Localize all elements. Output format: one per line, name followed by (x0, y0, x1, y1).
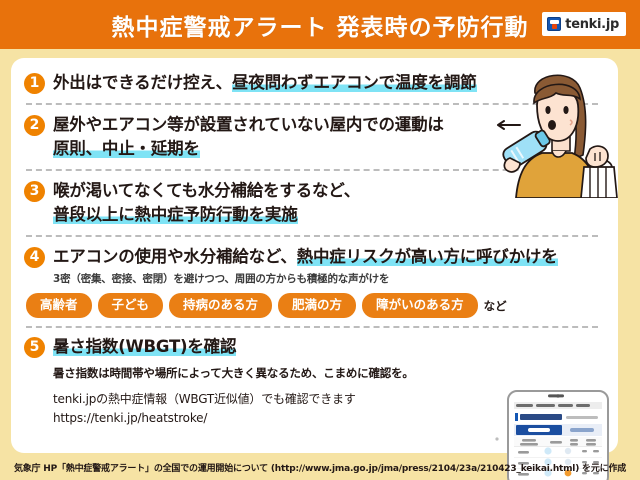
item-5-detail-1: 暑さ指数は時間帯や場所によって大きく異なるため、こまめに確認を。 (24, 365, 602, 381)
item-4-highlight: 熱中症リスクが高い方に呼びかけを (297, 247, 558, 266)
pill-obesity[interactable]: 肥満の方 (278, 293, 356, 318)
item-3-highlight: 普段以上に熱中症予防行動を実施 (53, 205, 298, 224)
heatstroke-url[interactable]: https://tenki.jp/heatstroke/ (53, 411, 207, 425)
item-5-highlight: 暑さ指数(WBGT)を確認 (53, 337, 236, 356)
tenki-logo-label: tenki.jp (565, 17, 619, 32)
pills-tail-label: など (484, 298, 507, 314)
divider (26, 326, 598, 328)
header-bar: 熱中症警戒アラート 発表時の予防行動 tenki.jp (0, 0, 640, 49)
item-4-line-1: エアコンの使用や水分補給など、熱中症リスクが高い方に呼びかけを (53, 245, 602, 268)
item-4-subtext: 3密（密集、密接、密閉）を避けつつ、周囲の方からも積極的な声がけを (53, 272, 602, 288)
pill-elderly[interactable]: 高齢者 (26, 293, 92, 318)
pill-chronic-illness[interactable]: 持病のある方 (169, 293, 272, 318)
item-number-1: 1 (24, 73, 45, 94)
item-5-line-1: 暑さ指数(WBGT)を確認 (53, 335, 602, 358)
tenki-cube-icon (547, 17, 561, 31)
page-title: 熱中症警戒アラート 発表時の予防行動 (111, 8, 528, 42)
item-3-line-2: 普段以上に熱中症予防行動を実施 (53, 203, 602, 226)
item-number-2: 2 (24, 115, 45, 136)
item-number-3: 3 (24, 181, 45, 202)
divider (26, 235, 598, 237)
item-2-highlight: 原則、中止・延期を (53, 139, 200, 158)
item-1-plain: 外出はできるだけ控え、 (53, 73, 232, 92)
poster: 熱中症警戒アラート 発表時の予防行動 tenki.jp 1 外出はできるだけ控え… (0, 0, 640, 480)
item-1-highlight: 昼夜問わずエアコンで温度を調節 (232, 73, 477, 92)
source-note: 気象庁 HP「熱中症警戒アラート」の全国での運用開始について (http://w… (0, 461, 640, 474)
item-number-4: 4 (24, 247, 45, 268)
tenki-logo[interactable]: tenki.jp (542, 12, 626, 36)
woman-drinking-water-illustration (480, 63, 630, 198)
list-item: 4 エアコンの使用や水分補給など、熱中症リスクが高い方に呼びかけを 3密（密集、… (24, 245, 602, 318)
risk-group-pills: 高齢者 子ども 持病のある方 肥満の方 障がいのある方 など (24, 293, 602, 318)
tenki-wbgt-note: tenki.jpの熱中症情報（WBGT近似値）でも確認できます (53, 392, 356, 406)
item-4-plain: エアコンの使用や水分補給など、 (53, 247, 297, 266)
pill-children[interactable]: 子ども (98, 293, 164, 318)
pill-disability[interactable]: 障がいのある方 (362, 293, 478, 318)
item-number-5: 5 (24, 337, 45, 358)
